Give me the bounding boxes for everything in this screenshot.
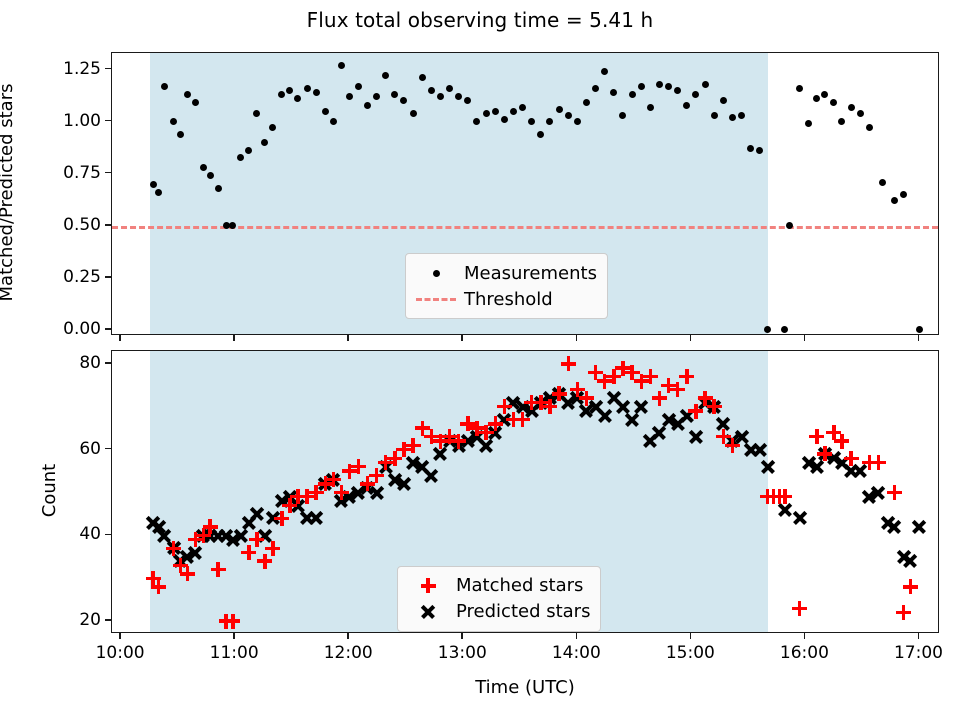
x-tick-mark — [918, 633, 920, 639]
x-tick-label: 11:00 — [210, 643, 259, 663]
legend-bottom-panel: Matched stars Predicted stars — [397, 566, 601, 632]
y-axis-label-bottom: Count — [39, 349, 60, 632]
legend-item-threshold[interactable]: Threshold — [414, 286, 597, 312]
y-tick-mark — [105, 276, 111, 278]
data-point — [510, 108, 517, 115]
data-point — [355, 83, 362, 90]
y-tick-label: 0.00 — [13, 319, 101, 339]
y-tick-mark — [105, 172, 111, 174]
x-tick-mark — [233, 633, 235, 639]
data-point — [519, 104, 526, 111]
cross-marker-icon — [406, 601, 450, 623]
figure-canvas: Flux total observing time = 5.41 h Measu… — [0, 0, 960, 720]
data-point — [446, 85, 453, 92]
data-point — [738, 112, 745, 119]
legend-label-predicted-stars: Predicted stars — [450, 601, 590, 622]
x-tick-label: 12:00 — [324, 643, 373, 663]
data-point — [805, 120, 812, 127]
data-point — [322, 108, 329, 115]
data-point — [711, 112, 718, 119]
y-tick-label: 0.75 — [13, 163, 101, 183]
x-tick-label: 14:00 — [552, 643, 601, 663]
data-point — [900, 191, 907, 198]
data-point — [830, 99, 837, 106]
data-point — [177, 131, 184, 138]
data-point — [592, 85, 599, 92]
x-tick-label: 13:00 — [438, 643, 487, 663]
y-tick-label: 0.25 — [13, 267, 101, 287]
data-point — [537, 131, 544, 138]
plus-marker-icon — [406, 575, 450, 597]
x-tick-mark — [347, 335, 349, 341]
legend-label-measurements: Measurements — [458, 263, 597, 284]
legend-item-matched-stars[interactable]: Matched stars — [406, 573, 590, 599]
y-tick-mark — [105, 619, 111, 621]
y-tick-mark — [105, 224, 111, 226]
data-point — [813, 95, 820, 102]
legend-item-measurements[interactable]: Measurements — [414, 260, 597, 286]
measurements-marker-icon — [414, 262, 458, 284]
x-tick-label: 16:00 — [780, 643, 829, 663]
y-tick-mark — [105, 534, 111, 536]
data-point — [891, 197, 898, 204]
data-point — [428, 87, 435, 94]
data-point — [556, 106, 563, 113]
x-tick-label: 15:00 — [666, 643, 715, 663]
data-point — [330, 118, 337, 125]
y-tick-label: 1.00 — [13, 111, 101, 131]
legend-label-matched-stars: Matched stars — [450, 575, 583, 596]
data-point — [702, 81, 709, 88]
data-point — [866, 124, 873, 131]
data-point — [796, 85, 803, 92]
data-point — [364, 102, 371, 109]
x-tick-mark — [804, 335, 806, 341]
data-point — [857, 110, 864, 117]
data-point — [665, 83, 672, 90]
legend-label-threshold: Threshold — [458, 289, 553, 310]
data-point — [161, 83, 168, 90]
data-point — [848, 104, 855, 111]
x-tick-label: 10:00 — [96, 643, 145, 663]
data-point — [313, 89, 320, 96]
data-point — [916, 326, 923, 333]
x-tick-mark — [576, 633, 578, 639]
data-point — [200, 164, 207, 171]
y-tick-mark — [105, 120, 111, 122]
x-tick-mark — [918, 335, 920, 341]
y-axis-label-top: Matched/Predicted stars — [0, 51, 17, 334]
x-tick-mark — [690, 335, 692, 341]
x-tick-mark — [461, 633, 463, 639]
x-tick-mark — [119, 633, 121, 639]
x-tick-mark — [119, 335, 121, 341]
data-point — [410, 110, 417, 117]
data-point — [483, 110, 490, 117]
x-tick-mark — [461, 335, 463, 341]
x-tick-mark — [690, 633, 692, 639]
data-point — [501, 116, 508, 123]
axes-bottom-panel: Matched stars Predicted stars — [111, 350, 939, 633]
y-tick-mark — [105, 362, 111, 364]
data-point — [150, 181, 157, 188]
threshold-line-icon — [414, 288, 458, 310]
data-point — [565, 112, 572, 119]
x-axis-label: Time (UTC) — [475, 677, 575, 698]
data-point — [207, 172, 214, 179]
x-tick-mark — [576, 335, 578, 341]
data-point — [237, 154, 244, 161]
data-point — [215, 185, 222, 192]
data-point — [184, 91, 191, 98]
data-point — [683, 102, 690, 109]
y-tick-mark — [105, 328, 111, 330]
y-tick-mark — [105, 448, 111, 450]
data-point — [647, 104, 654, 111]
y-tick-label: 0.50 — [13, 215, 101, 235]
data-point — [629, 91, 636, 98]
x-tick-label: 17:00 — [894, 643, 943, 663]
axes-top-panel: Measurements Threshold — [111, 52, 939, 335]
data-point — [764, 326, 771, 333]
legend-top-panel: Measurements Threshold — [405, 253, 608, 319]
legend-item-predicted-stars[interactable]: Predicted stars — [406, 599, 590, 625]
data-point — [338, 62, 345, 69]
x-tick-mark — [233, 335, 235, 341]
y-tick-mark — [105, 68, 111, 70]
page-title: Flux total observing time = 5.41 h — [0, 8, 960, 32]
data-point — [304, 85, 311, 92]
data-point — [492, 108, 499, 115]
y-tick-label: 1.25 — [13, 59, 101, 79]
data-point — [781, 326, 788, 333]
data-point — [879, 179, 886, 186]
x-tick-mark — [804, 633, 806, 639]
data-point — [638, 83, 645, 90]
data-point — [838, 118, 845, 125]
data-point — [656, 81, 663, 88]
data-point — [821, 91, 828, 98]
x-tick-mark — [347, 633, 349, 639]
data-point — [346, 93, 353, 100]
data-point — [574, 118, 581, 125]
data-point — [729, 114, 736, 121]
